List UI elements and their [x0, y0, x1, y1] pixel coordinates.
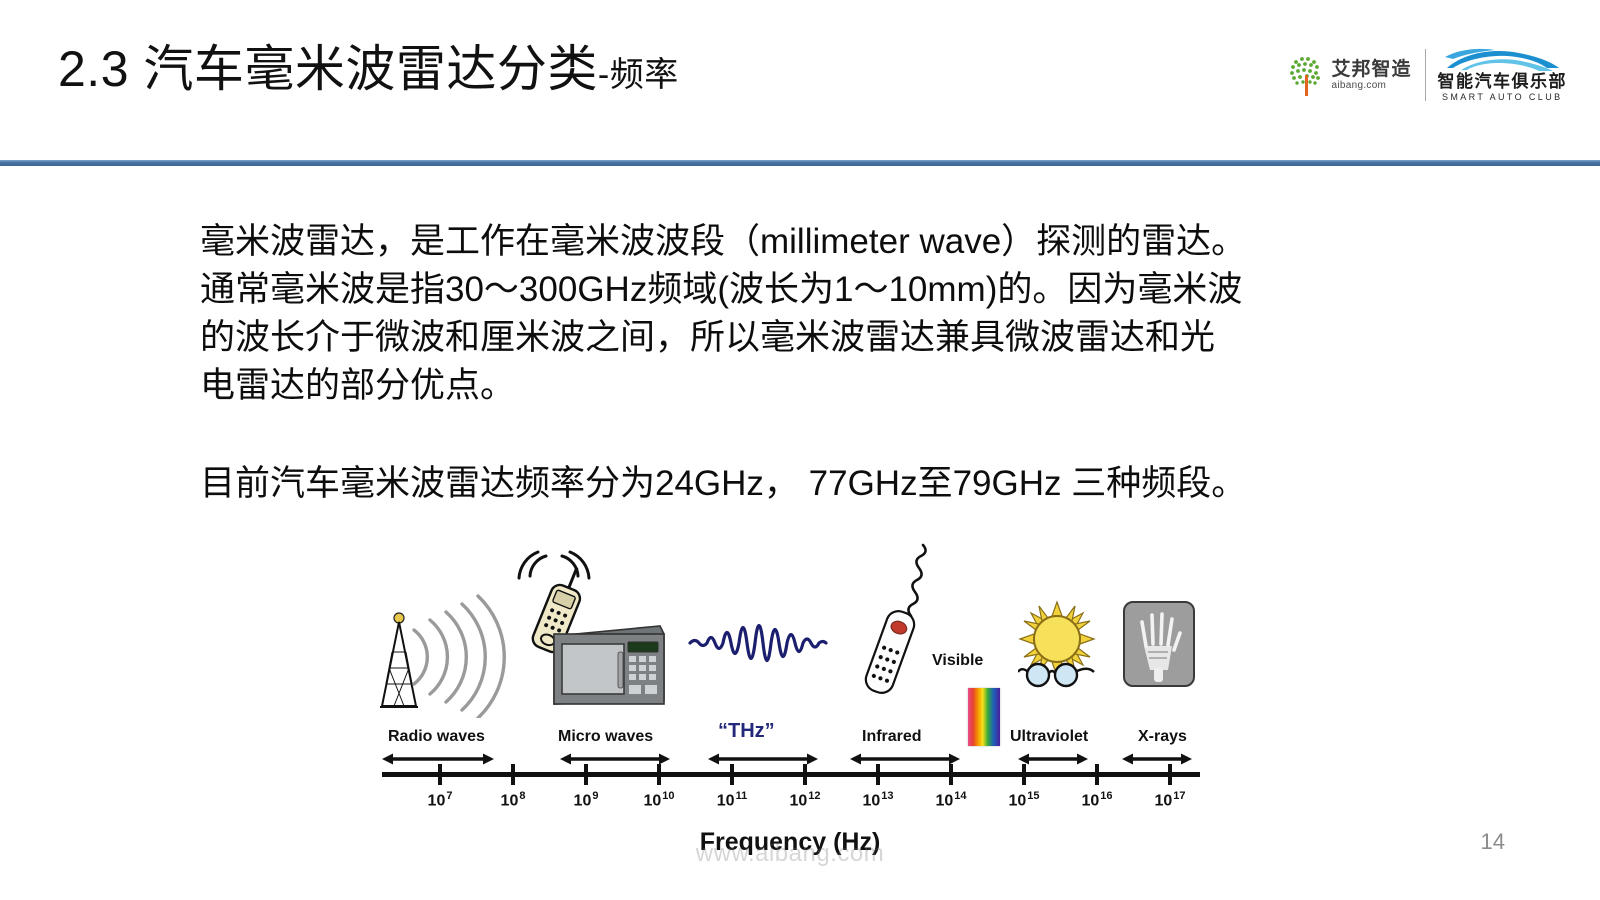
page-title-sub: -频率	[598, 56, 679, 94]
watermark: www.aibang.com	[370, 840, 1210, 868]
band-label: Infrared	[862, 728, 922, 746]
axis-tick-label: 1012	[789, 790, 820, 810]
page-title-main: 2.3 汽车毫米波雷达分类	[58, 41, 598, 97]
paragraph-line: 毫米波雷达，是工作在毫米波波段（millimeter wave）探测的雷达。	[200, 218, 1400, 266]
aibang-name-en: aibang.com	[1331, 80, 1411, 92]
axis-tick-label: 1011	[717, 790, 747, 810]
axis-tick-label: 1013	[862, 790, 893, 810]
axis-tick-label: 109	[574, 790, 599, 810]
band-label: Radio waves	[388, 728, 485, 746]
axis-tick-label: 1015	[1008, 790, 1039, 810]
band-range-arrow	[850, 752, 960, 766]
rainbow-bar-icon	[968, 688, 1000, 746]
aibang-logo: 艾邦智造 aibang.com	[1288, 53, 1422, 97]
axis-tick-label: 1016	[1081, 790, 1112, 810]
aibang-name-cn: 艾邦智造	[1331, 59, 1411, 80]
axis-tick	[438, 764, 442, 785]
logo-bar: 艾邦智造 aibang.com 智能汽车俱乐部 SMART AUTO CLUB	[1288, 42, 1567, 108]
slide-header: 2.3 汽车毫米波雷达分类-频率	[0, 0, 1600, 166]
axis-tick	[1095, 764, 1099, 785]
axis-tick-label: 108	[501, 790, 526, 810]
axis-tick	[876, 764, 880, 785]
body-copy: 毫米波雷达，是工作在毫米波波段（millimeter wave）探测的雷达。 通…	[200, 218, 1400, 508]
axis-tick	[511, 764, 515, 785]
paragraph-line: 电雷达的部分优点。	[200, 362, 1400, 410]
car-swoosh-icon	[1443, 48, 1561, 72]
xray-hand-icon	[1122, 600, 1196, 688]
axis-tick	[1168, 764, 1172, 785]
paragraph-frequency-bands: 目前汽车毫米波雷达频率分为24GHz， 77GHz至79GHz 三种频段。	[200, 460, 1400, 508]
paragraph-line: 的波长介于微波和厘米波之间，所以毫米波雷达兼具微波雷达和光	[200, 314, 1400, 362]
tree-icon	[1288, 53, 1326, 97]
smart-auto-name-en: SMART AUTO CLUB	[1442, 92, 1563, 103]
axis-tick-label: 1014	[935, 790, 966, 810]
header-divider	[0, 160, 1600, 166]
band-range-arrow	[708, 752, 818, 766]
logo-divider	[1425, 49, 1426, 101]
band-label: Micro waves	[558, 728, 653, 746]
aibang-wordmark: 艾邦智造 aibang.com	[1331, 59, 1411, 92]
axis-tick	[803, 764, 807, 785]
paragraph-line: 通常毫米波是指30～300GHz频域(波长为1～10mm)的。因为毫米波	[200, 266, 1400, 314]
band-range-arrow	[1122, 752, 1192, 766]
thz-wave-icon	[688, 598, 828, 688]
band-label: X-rays	[1138, 728, 1187, 746]
axis-tick-label: 107	[428, 790, 453, 810]
axis-tick	[730, 764, 734, 785]
band-range-arrow	[560, 752, 670, 766]
frequency-axis-line	[382, 772, 1200, 777]
page-title: 2.3 汽车毫米波雷达分类-频率	[58, 38, 679, 106]
band-range-arrow	[1018, 752, 1088, 766]
sunglasses-icon	[1018, 658, 1096, 690]
axis-tick	[657, 764, 661, 785]
axis-tick	[1022, 764, 1026, 785]
visible-label: Visible	[932, 652, 983, 670]
band-label: Ultraviolet	[1010, 728, 1088, 746]
band-label: “THz”	[718, 720, 775, 743]
radio-waves-icon	[408, 588, 538, 718]
axis-tick	[584, 764, 588, 785]
smart-auto-club-logo: 智能汽车俱乐部 SMART AUTO CLUB	[1438, 48, 1568, 103]
smart-auto-name-cn: 智能汽车俱乐部	[1438, 73, 1568, 92]
microwave-oven-icon	[548, 618, 670, 708]
axis-tick-label: 1017	[1154, 790, 1185, 810]
infrared-remote-icon	[858, 602, 922, 702]
page-number: 14	[1481, 829, 1505, 855]
axis-tick-label: 1010	[643, 790, 674, 810]
electromagnetic-spectrum-figure: Visible	[370, 540, 1210, 870]
paragraph-definition: 毫米波雷达，是工作在毫米波波段（millimeter wave）探测的雷达。 通…	[200, 218, 1400, 410]
axis-tick	[949, 764, 953, 785]
paragraph-line: 目前汽车毫米波雷达频率分为24GHz， 77GHz至79GHz 三种频段。	[200, 460, 1400, 508]
